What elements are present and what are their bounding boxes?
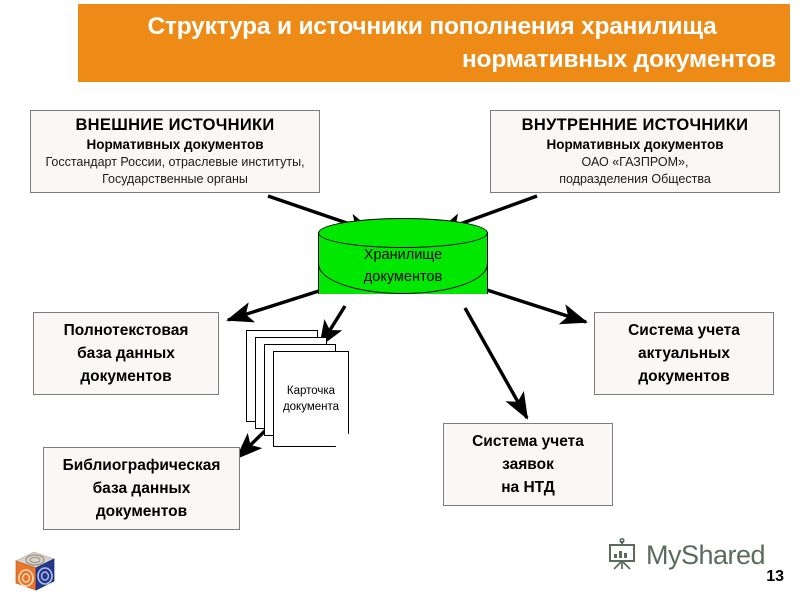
actual-docs-line-3: документов (638, 365, 729, 388)
repository-label: Хранилище документов (318, 244, 488, 288)
presentation-board-icon (605, 538, 639, 572)
arrow-repository-to-fulltext (228, 290, 322, 320)
internal-sources-detail-2: подразделения Общества (559, 171, 711, 188)
actual-docs-line-1: Система учета (628, 319, 740, 342)
node-document-card-stack[interactable]: Карточка документа (246, 330, 350, 442)
node-actual-documents-system[interactable]: Система учета актуальных документов (594, 312, 774, 395)
repository-label-line-1: Хранилище (318, 244, 488, 266)
node-requests-system[interactable]: Система учета заявок на НТД (443, 423, 613, 506)
slide-canvas: Структура и источники пополнения хранили… (0, 0, 800, 600)
node-bibliographic-database[interactable]: Библиографическая база данных документов (43, 447, 240, 530)
fulltext-line-1: Полнотекстовая (64, 319, 189, 342)
bibliographic-line-3: документов (96, 500, 187, 523)
internal-sources-subheading: Нормативных документов (546, 136, 723, 154)
fulltext-line-2: база данных (77, 342, 175, 365)
slide-title-line-2: нормативных документов (88, 43, 776, 76)
node-repository-cylinder[interactable]: Хранилище документов (318, 218, 488, 308)
document-card-front[interactable]: Карточка документа (273, 351, 349, 447)
node-external-sources[interactable]: ВНЕШНИЕ ИСТОЧНИКИ Нормативных документов… (30, 110, 320, 193)
external-sources-subheading: Нормативных документов (86, 136, 263, 154)
slide-title-banner: Структура и источники пополнения хранили… (78, 4, 790, 82)
node-fulltext-database[interactable]: Полнотекстовая база данных документов (33, 312, 219, 395)
slide-title-line-1: Структура и источники пополнения хранили… (88, 10, 776, 43)
requests-line-2: заявок (502, 453, 554, 476)
requests-line-3: на НТД (501, 476, 555, 499)
internal-sources-detail-1: ОАО «ГАЗПРОМ», (582, 154, 689, 171)
internal-sources-heading: ВНУТРЕННИЕ ИСТОЧНИКИ (522, 115, 749, 136)
fulltext-line-3: документов (80, 365, 171, 388)
document-card-line-2: документа (283, 399, 339, 415)
external-sources-detail-1: Госстандарт России, отраслевые институты… (45, 154, 304, 171)
repository-label-line-2: документов (318, 266, 488, 288)
document-card-line-1: Карточка (287, 383, 335, 399)
node-internal-sources[interactable]: ВНУТРЕННИЕ ИСТОЧНИКИ Нормативных докумен… (490, 110, 780, 193)
bibliographic-line-2: база данных (93, 477, 191, 500)
cube-logo-icon (12, 548, 58, 594)
arrow-repository-to-actual-docs (487, 290, 586, 322)
external-sources-heading: ВНЕШНИЕ ИСТОЧНИКИ (75, 115, 274, 136)
myshared-watermark: MyShared (605, 535, 765, 575)
actual-docs-line-2: актуальных (638, 342, 730, 365)
bibliographic-line-1: Библиографическая (63, 454, 221, 477)
requests-line-1: Система учета (472, 430, 584, 453)
page-number: 13 (766, 568, 784, 586)
myshared-brand-text: MyShared (646, 540, 765, 571)
external-sources-detail-2: Государственные органы (102, 171, 248, 188)
arrow-repository-to-requests-system (465, 308, 527, 418)
